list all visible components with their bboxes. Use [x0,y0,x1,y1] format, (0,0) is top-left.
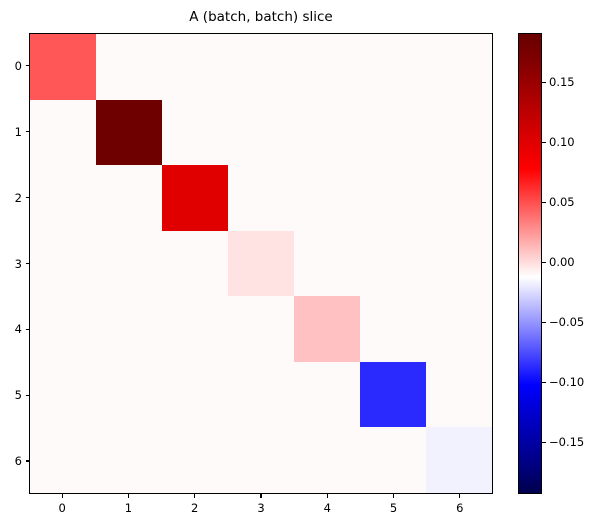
y-tick-label: 4 [15,321,22,337]
y-tick-line [26,131,30,132]
heatmap-cell [360,362,426,428]
y-tick-line [26,65,30,66]
colorbar-gradient [519,34,541,493]
heatmap-cell [360,231,426,297]
x-tick-line [393,494,394,498]
heatmap-cell [294,427,360,493]
heatmap-cell [294,296,360,362]
heatmap-cell [96,427,162,493]
heatmap-cell [162,362,228,428]
heatmap-cell [228,231,294,297]
heatmap-cell [360,100,426,166]
heatmap-cell [30,296,96,362]
heatmap-grid [30,34,492,493]
x-tick-line [459,494,460,498]
heatmap-cell [426,165,492,231]
heatmap-cell [228,100,294,166]
colorbar-tick-line [542,382,546,383]
x-tick-label: 5 [374,500,414,516]
y-tick-line [26,197,30,198]
heatmap-cell [30,427,96,493]
y-tick-line [26,263,30,264]
x-tick-label: 2 [175,500,215,516]
heatmap-cell [30,231,96,297]
colorbar-tick-label: 0.15 [549,74,575,90]
colorbar-tick-label: −0.10 [549,374,584,390]
matplotlib-figure: A (batch, batch) slice 0123456 0123456 0… [0,0,606,528]
x-tick-label: 3 [241,500,281,516]
x-tick-line [327,494,328,498]
colorbar-tick-line [542,442,546,443]
heatmap-cell [96,296,162,362]
colorbar-axis: 0.150.100.050.00−0.05−0.10−0.15 [542,33,606,494]
x-axis: 0123456 [29,494,493,528]
colorbar-tick-line [542,322,546,323]
colorbar-tick-line [542,82,546,83]
heatmap-cell [162,296,228,362]
heatmap-cell [294,231,360,297]
heatmap-cell [294,165,360,231]
colorbar-tick-label: 0.10 [549,134,575,150]
heatmap-cell [162,100,228,166]
y-tick-label: 0 [15,58,22,74]
heatmap-cell [30,34,96,100]
heatmap-cell [228,34,294,100]
heatmap-cell [162,231,228,297]
colorbar-tick-label: 0.00 [549,254,575,270]
y-tick-line [26,395,30,396]
y-tick-line [26,460,30,461]
heatmap-cell [96,231,162,297]
heatmap-cell [294,362,360,428]
heatmap-cell [294,100,360,166]
heatmap-cell [96,362,162,428]
heatmap-cell [426,296,492,362]
heatmap-cell [228,165,294,231]
colorbar-tick-label: 0.05 [549,194,575,210]
heatmap-cell [228,296,294,362]
heatmap-cell [30,100,96,166]
heatmap-cell [426,231,492,297]
x-tick-line [260,494,261,498]
colorbar[interactable] [518,33,542,494]
heatmap-cell [228,362,294,428]
x-tick-line [62,494,63,498]
heatmap-cell [360,34,426,100]
colorbar-tick-line [542,142,546,143]
colorbar-tick-line [542,202,546,203]
heatmap-cell [30,165,96,231]
heatmap-cell [426,100,492,166]
heatmap-cell [360,165,426,231]
x-tick-label: 1 [108,500,148,516]
heatmap-cell [96,100,162,166]
y-tick-label: 6 [15,453,22,469]
y-tick-label: 1 [15,124,22,140]
y-tick-label: 2 [15,190,22,206]
colorbar-tick-label: −0.05 [549,314,584,330]
heatmap-cell [96,34,162,100]
x-tick-label: 6 [440,500,480,516]
heatmap-cell [30,362,96,428]
x-tick-line [194,494,195,498]
y-axis: 0123456 [0,33,29,494]
heatmap-cell [426,427,492,493]
heatmap-cell [360,296,426,362]
x-tick-line [128,494,129,498]
heatmap-cell [228,427,294,493]
heatmap-cell [162,165,228,231]
heatmap-cell [294,34,360,100]
y-tick-line [26,329,30,330]
x-tick-label: 4 [307,500,347,516]
page-title: A (batch, batch) slice [29,8,493,26]
x-tick-label: 0 [42,500,82,516]
heatmap-axes[interactable] [29,33,493,494]
heatmap-cell [426,34,492,100]
heatmap-cell [96,165,162,231]
y-tick-label: 5 [15,387,22,403]
heatmap-cell [162,34,228,100]
heatmap-cell [426,362,492,428]
heatmap-cell [360,427,426,493]
colorbar-tick-label: −0.15 [549,434,584,450]
heatmap-cell [162,427,228,493]
colorbar-tick-line [542,262,546,263]
y-tick-label: 3 [15,256,22,272]
